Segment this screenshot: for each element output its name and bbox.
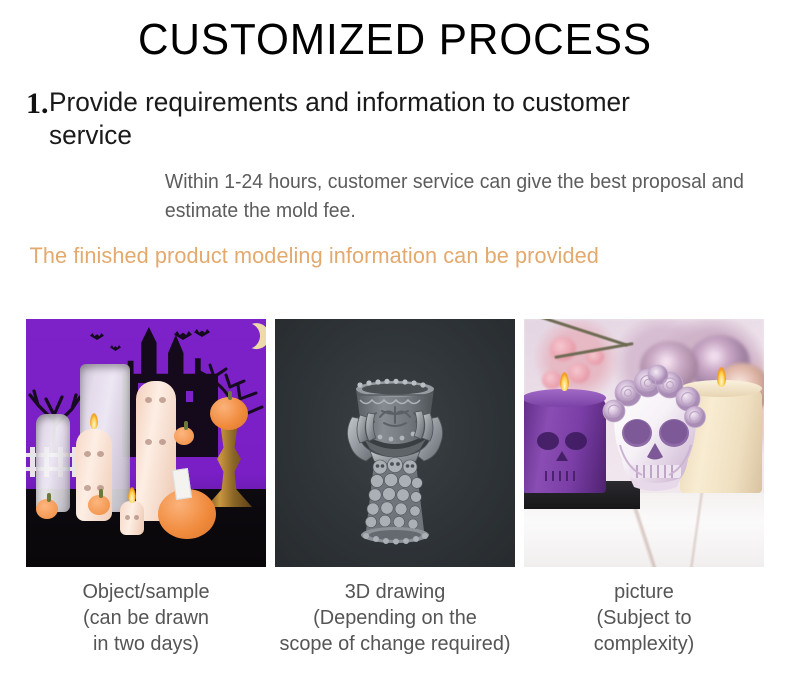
blossom-flower	[542, 371, 562, 389]
caption-picture: picture (Subject to complexity)	[528, 579, 761, 657]
blossom-flower	[568, 363, 590, 383]
caption-line: (Depending on the	[279, 605, 512, 631]
candle-flame	[128, 487, 136, 503]
caption-line: complexity)	[528, 631, 761, 657]
candle-flame	[717, 367, 726, 387]
candle-flame	[560, 372, 569, 391]
bat-icon	[110, 345, 121, 351]
caption-line: (can be drawn	[30, 605, 263, 631]
pumpkin-cutout	[88, 495, 110, 515]
bat-icon	[194, 329, 210, 337]
caption-line: Object/sample	[30, 579, 263, 605]
silicone-mold	[36, 414, 70, 512]
caption-line: (Subject to	[528, 605, 761, 631]
pumpkin-on-stand	[210, 397, 248, 430]
step-detail-text: Within 1-24 hours, customer service can …	[0, 168, 766, 226]
caption-line: in two days)	[30, 631, 263, 657]
caption-object-sample: Object/sample (can be drawn in two days)	[30, 579, 263, 657]
highlight-note: The finished product modeling informatio…	[0, 242, 778, 271]
step-heading: Provide requirements and information to …	[49, 86, 631, 152]
small-skull-candle	[120, 501, 144, 535]
rose-skull-candle	[596, 357, 714, 507]
step-number: 1.	[26, 86, 49, 120]
purple-skull-face	[526, 415, 600, 489]
gallery-image-picture[interactable]	[524, 319, 764, 567]
caption-line: picture	[528, 579, 761, 605]
bat-icon	[90, 333, 104, 340]
caption-3d-drawing: 3D drawing (Depending on the scope of ch…	[279, 579, 512, 657]
caption-line: scope of change required)	[279, 631, 512, 657]
page-title: CUSTOMIZED PROCESS	[16, 16, 774, 64]
pumpkin-cutout	[174, 427, 194, 445]
castle-window	[186, 391, 193, 402]
pumpkin-cutout	[36, 499, 58, 519]
candle-flame	[90, 413, 98, 429]
step-block: 1. Provide requirements and information …	[0, 86, 790, 152]
image-gallery	[26, 319, 764, 567]
goblet-3d-model	[320, 355, 470, 551]
purple-candle-top	[524, 389, 606, 407]
moon-icon	[231, 320, 264, 353]
caption-line: 3D drawing	[279, 579, 512, 605]
product-tag	[172, 468, 192, 500]
gallery-image-3d-drawing[interactable]	[275, 319, 515, 567]
gallery-image-object-sample[interactable]	[26, 319, 266, 567]
gallery-captions: Object/sample (can be drawn in two days)…	[26, 579, 764, 657]
